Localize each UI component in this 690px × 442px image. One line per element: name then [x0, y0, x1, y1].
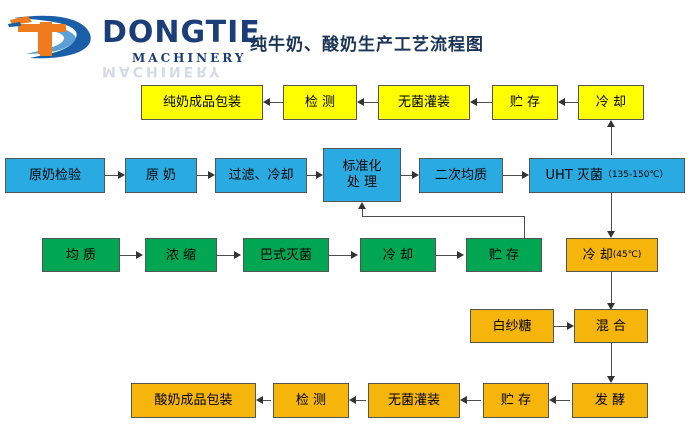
flowchart-page: DONGTIE MACHINERY MACHINERY 纯牛奶、酸奶生产工艺流程… [0, 0, 690, 442]
node-raw-milk: 原 奶 [125, 158, 197, 193]
connector-arrow [357, 98, 364, 106]
connector-arrow [208, 171, 215, 179]
node-pasteurization: 巴式灭菌 [243, 238, 329, 272]
connector-arrow [136, 251, 143, 259]
node-standardization: 标准化 处 理 [323, 148, 401, 202]
node-yogurt-aseptic-filling: 无菌灌装 [368, 383, 460, 418]
connector-line [611, 193, 612, 231]
connector-line [362, 208, 363, 217]
connector-line [120, 255, 136, 256]
node-standardization-line1: 标准化 [342, 159, 381, 175]
connector-line [611, 343, 612, 376]
connector-arrow [118, 171, 125, 179]
node-cooling-45c-label: 冷 却 [583, 248, 613, 263]
page-title: 纯牛奶、酸奶生产工艺流程图 [250, 30, 484, 55]
connector-line [362, 216, 525, 217]
connector-arrow [549, 396, 556, 404]
connector-line [611, 126, 612, 155]
node-yogurt-base-storage: 贮 存 [466, 238, 542, 272]
connector-arrow [607, 303, 615, 310]
connector-arrow [316, 171, 323, 179]
connector-arrow [234, 251, 241, 259]
connector-line [524, 216, 525, 239]
connector-arrow [263, 98, 270, 106]
connector-arrow [412, 171, 419, 179]
connector-arrow [460, 396, 467, 404]
node-homogenization: 均 质 [42, 238, 120, 272]
connector-arrow [607, 120, 615, 127]
node-milk-cooling: 冷 却 [578, 85, 644, 120]
connector-line [554, 326, 567, 327]
node-uht-sterilization: UHT 灭菌（135-150℃） [529, 158, 685, 193]
connector-arrow [522, 171, 529, 179]
node-raw-milk-inspection: 原奶检验 [5, 158, 105, 193]
logo-wordmark: DONGTIE [102, 18, 261, 48]
connector-arrow [470, 98, 477, 106]
connector-arrow [256, 396, 263, 404]
node-uht-temperature: （135-150℃） [603, 168, 669, 183]
node-fermentation: 发 酵 [572, 383, 648, 418]
connector-arrow [567, 322, 574, 330]
connector-arrow [607, 231, 615, 238]
connector-line [611, 272, 612, 303]
node-milk-aseptic-filling: 无菌灌装 [378, 85, 470, 120]
node-concentration: 浓 缩 [145, 238, 217, 272]
connector-line [105, 175, 118, 176]
connector-line [217, 255, 234, 256]
logo-reflection: MACHINERY [102, 64, 222, 78]
node-cooling-45c-temperature: (45℃) [613, 248, 642, 263]
connector-arrow [358, 202, 366, 209]
connector-line [401, 175, 412, 176]
node-white-sugar: 白纱糖 [470, 309, 554, 343]
node-filter-cooling: 过滤、冷却 [215, 158, 307, 193]
connector-line [436, 255, 457, 256]
node-cooling-45c: 冷 却(45℃) [566, 238, 658, 272]
node-yogurt-storage: 贮 存 [483, 383, 549, 418]
connector-line [307, 175, 316, 176]
connector-arrow [351, 251, 358, 259]
node-milk-storage: 贮 存 [492, 85, 558, 120]
dongtie-d-logo-icon [6, 10, 106, 62]
connector-arrow [457, 251, 464, 259]
node-standardization-line2: 处 理 [347, 175, 377, 191]
connector-arrow [558, 98, 565, 106]
node-uht-label: UHT 灭菌 [545, 168, 602, 183]
company-logo: DONGTIE MACHINERY MACHINERY [6, 6, 231, 72]
node-yogurt-final-packaging: 酸奶成品包装 [131, 383, 256, 418]
node-yogurt-inspection: 检 测 [273, 383, 349, 418]
node-second-homogenization: 二次均质 [419, 158, 503, 193]
node-mixing: 混 合 [574, 309, 648, 343]
connector-line [329, 255, 351, 256]
connector-line [197, 175, 208, 176]
node-milk-inspection: 检 测 [283, 85, 357, 120]
connector-arrow [607, 376, 615, 383]
node-yogurt-cooling: 冷 却 [360, 238, 436, 272]
connector-arrow [349, 396, 356, 404]
connector-line [503, 175, 522, 176]
node-milk-final-packaging: 纯奶成品包装 [141, 85, 263, 120]
